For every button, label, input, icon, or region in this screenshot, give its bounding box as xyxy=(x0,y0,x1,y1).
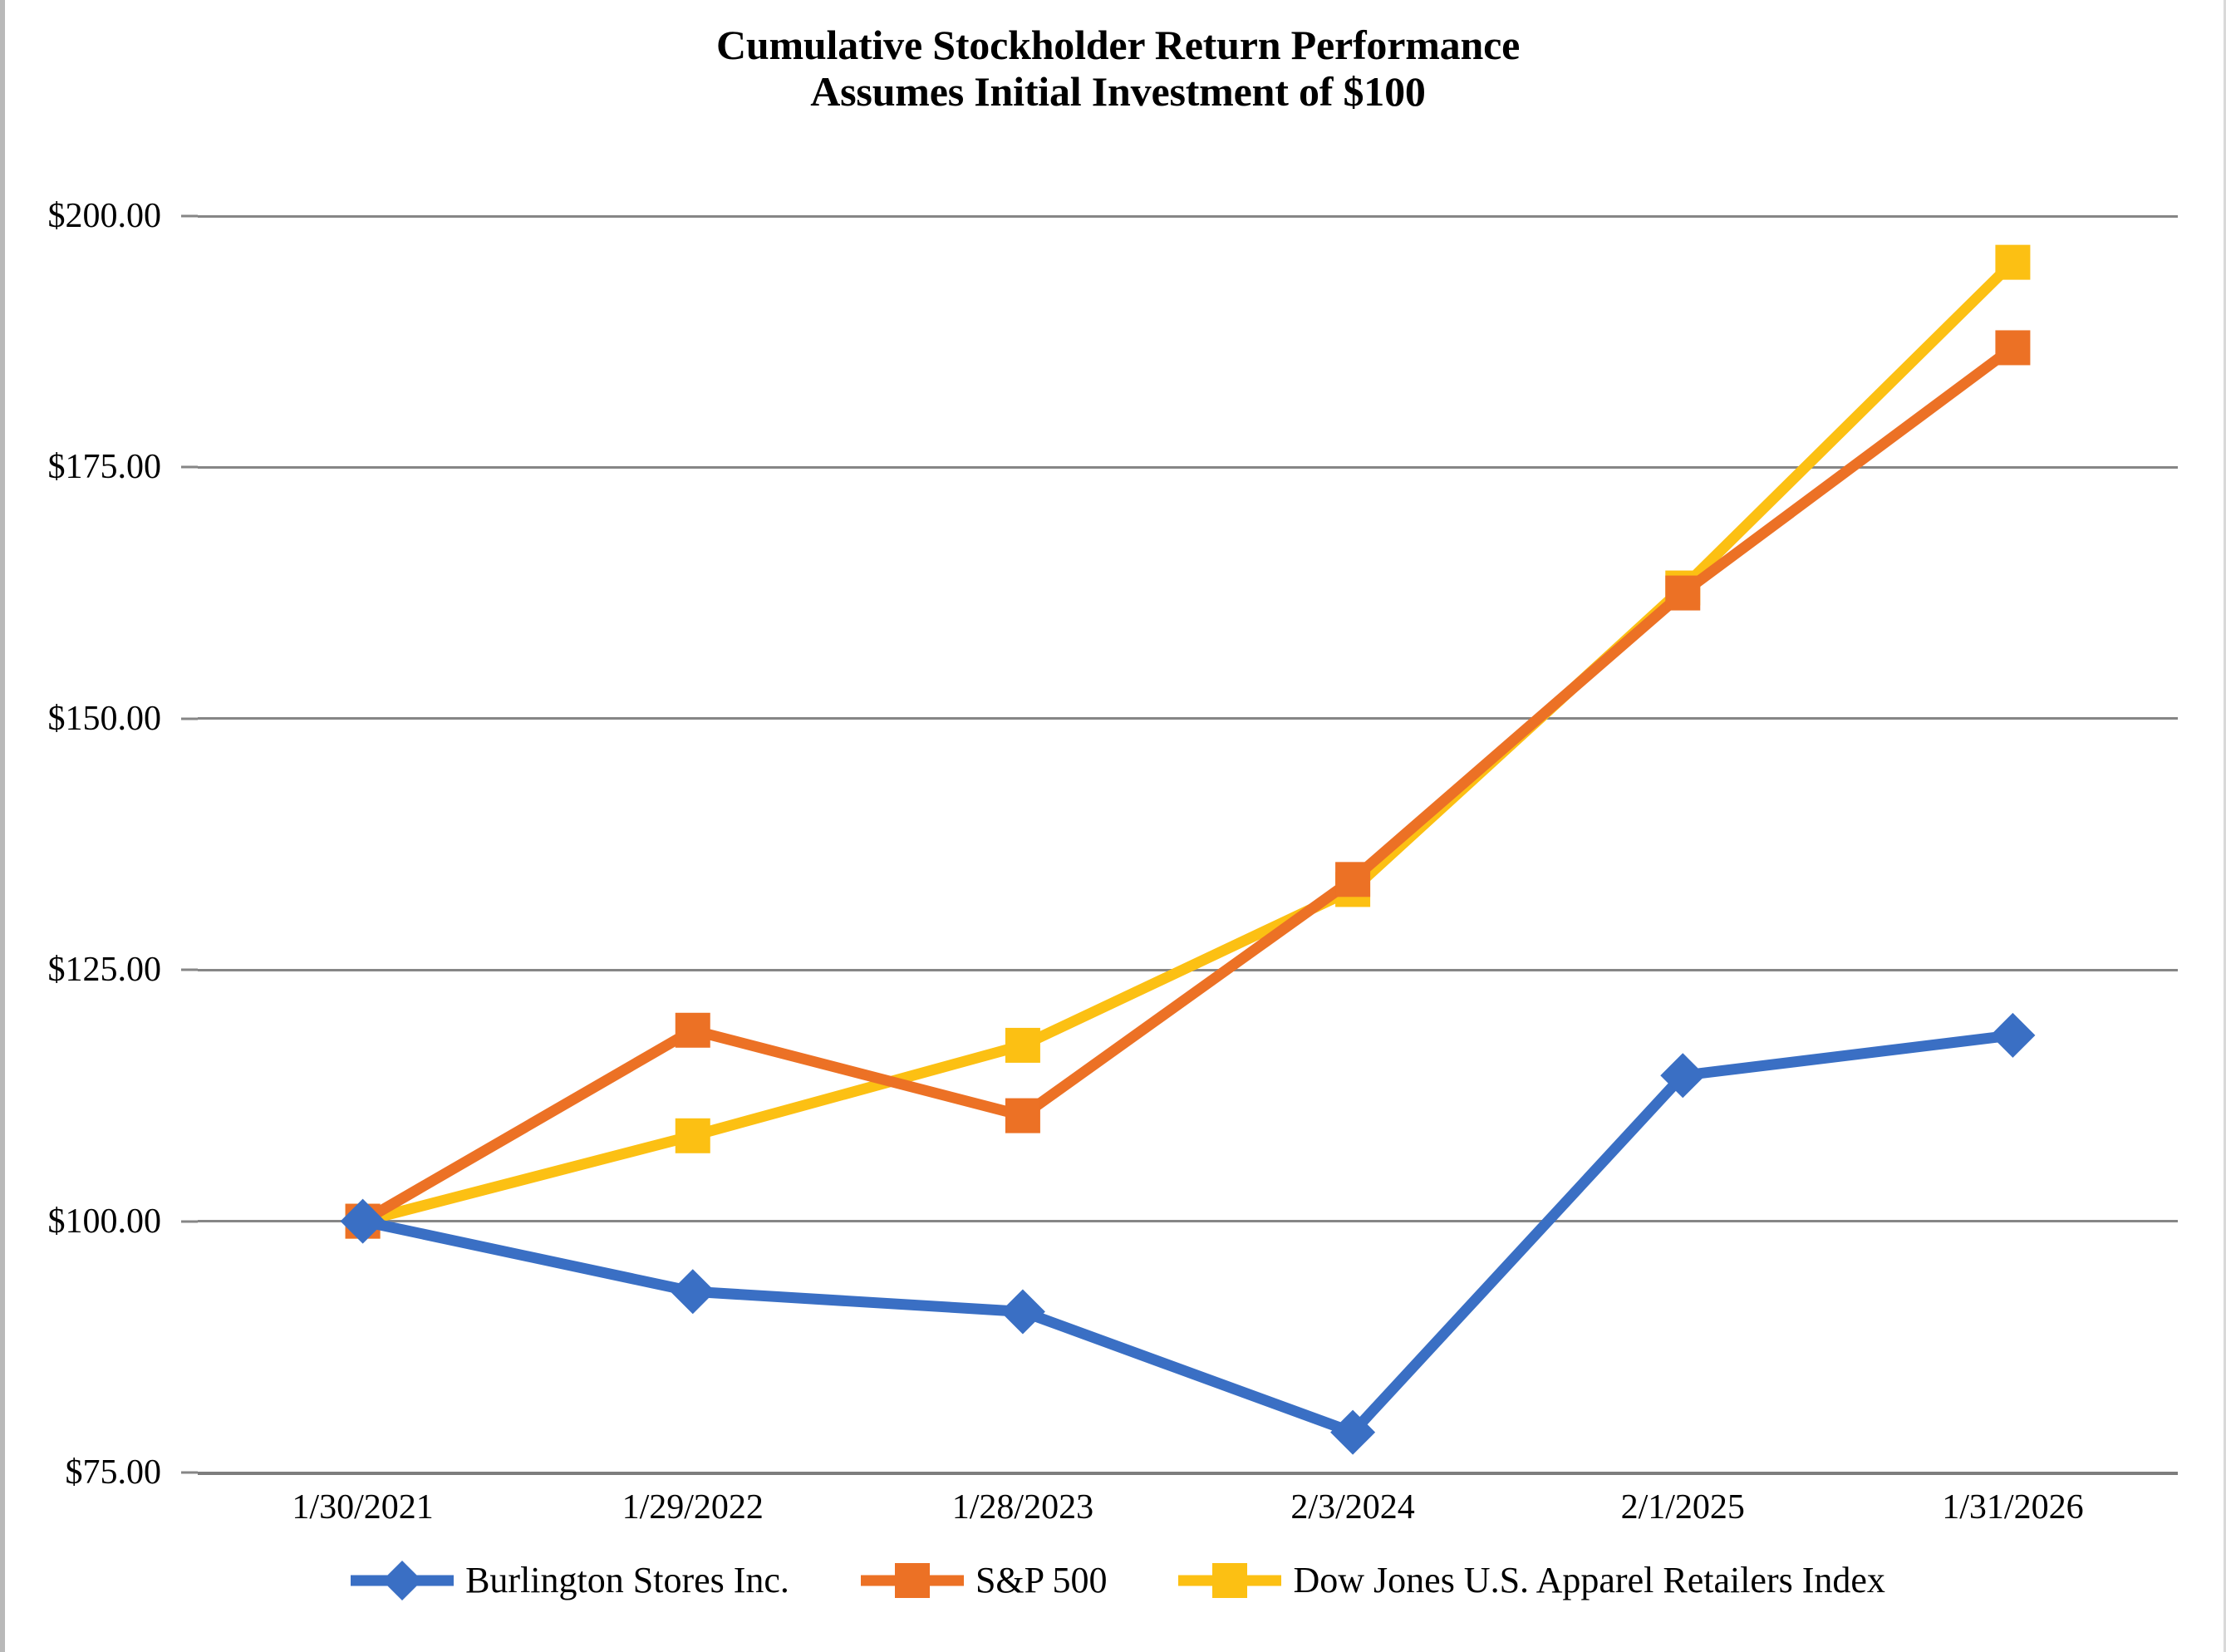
chart-legend: Burlington Stores Inc.S&P 500Dow Jones U… xyxy=(5,1562,2226,1599)
chart-title-line1: Cumulative Stockholder Return Performanc… xyxy=(5,22,2226,68)
y-axis-tick-label: $75.00 xyxy=(66,1453,162,1492)
data-point-marker xyxy=(676,1119,710,1153)
y-axis-tick-mark xyxy=(181,969,198,971)
series-burlington-stores-inc xyxy=(341,1013,2036,1455)
legend-label: S&P 500 xyxy=(975,1562,1108,1599)
series-layer xyxy=(198,216,2178,1473)
legend-label: Burlington Stores Inc. xyxy=(465,1562,789,1599)
legend-marker-swatch xyxy=(382,1561,422,1600)
series-line xyxy=(363,347,2013,1221)
legend-square-icon xyxy=(1178,1568,1281,1593)
data-point-marker xyxy=(1005,1028,1040,1063)
data-point-marker xyxy=(1990,1013,2035,1058)
legend-label: Dow Jones U.S. Apparel Retailers Index xyxy=(1293,1562,1884,1599)
data-point-marker xyxy=(1335,862,1370,897)
y-axis: $200.00$175.00$150.00$125.00$100.00$75.0… xyxy=(5,216,198,1473)
data-point-marker xyxy=(671,1269,715,1314)
y-axis-tick-label: $200.00 xyxy=(48,196,162,236)
legend-diamond-icon xyxy=(351,1568,454,1593)
y-axis-tick-label: $125.00 xyxy=(48,950,162,990)
y-axis-tick-mark xyxy=(181,717,198,720)
y-axis-tick-label: $150.00 xyxy=(48,699,162,739)
chart-title: Cumulative Stockholder Return Performanc… xyxy=(5,22,2226,115)
legend-item[interactable]: Dow Jones U.S. Apparel Retailers Index xyxy=(1178,1562,1884,1599)
data-point-marker xyxy=(1995,330,2030,365)
legend-marker-swatch xyxy=(895,1563,930,1598)
data-point-marker xyxy=(1000,1289,1045,1334)
legend-item[interactable]: Burlington Stores Inc. xyxy=(351,1562,789,1599)
chart-title-line2: Assumes Initial Investment of $100 xyxy=(5,68,2226,115)
y-axis-tick-mark xyxy=(181,1220,198,1222)
x-axis-tick-label: 1/29/2022 xyxy=(622,1487,764,1527)
y-axis-tick-label: $100.00 xyxy=(48,1202,162,1241)
legend-square-icon xyxy=(861,1568,964,1593)
y-axis-tick-mark xyxy=(181,466,198,469)
x-axis-tick-label: 1/30/2021 xyxy=(292,1487,433,1527)
data-point-marker xyxy=(1005,1099,1040,1133)
data-point-marker xyxy=(676,1013,710,1048)
plot-area xyxy=(198,216,2178,1473)
legend-item[interactable]: S&P 500 xyxy=(861,1562,1108,1599)
chart-canvas: Cumulative Stockholder Return Performanc… xyxy=(0,0,2226,1652)
series-line xyxy=(363,1035,2013,1433)
x-axis: 1/30/20211/29/20221/28/20232/3/20242/1/2… xyxy=(198,1487,2178,1541)
x-axis-tick-label: 1/31/2026 xyxy=(1942,1487,2083,1527)
y-axis-tick-mark xyxy=(181,215,198,218)
y-axis-tick-label: $175.00 xyxy=(48,447,162,487)
legend-marker-swatch xyxy=(1212,1563,1247,1598)
y-axis-tick-mark xyxy=(181,1472,198,1474)
data-point-marker xyxy=(1665,576,1700,611)
x-axis-tick-label: 1/28/2023 xyxy=(952,1487,1093,1527)
x-axis-tick-label: 2/1/2025 xyxy=(1621,1487,1745,1527)
data-point-marker xyxy=(1995,245,2030,280)
series-s-p-500 xyxy=(346,330,2031,1238)
x-axis-tick-label: 2/3/2024 xyxy=(1290,1487,1414,1527)
